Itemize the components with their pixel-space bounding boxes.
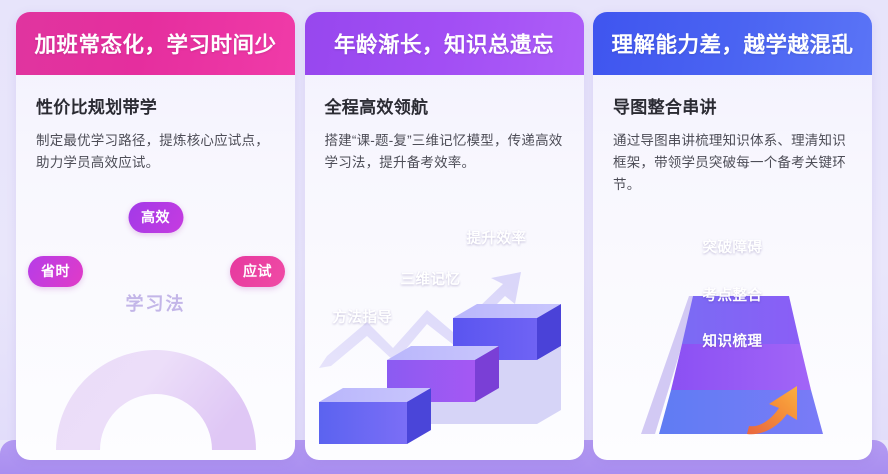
feature-card-list: 加班常态化，学习时间少 性价比规划带学 制定最优学习路径，提炼核心应试点，助力学…: [0, 0, 888, 474]
pyramid-level-3: [659, 390, 823, 434]
card-1-subtitle: 性价比规划带学: [36, 93, 275, 118]
feature-card-2[interactable]: 年龄渐长，知识总遗忘 全程高效领航 搭建“课-题-复”三维记忆模型，传递高效学习…: [305, 12, 584, 460]
arch-pill-right: 应试: [230, 256, 285, 287]
card-3-description: 通过导图串讲梳理知识体系、理清知识框架，带领学员突破每一个备考关键环节。: [613, 130, 852, 196]
arch-pill-top: 高效: [128, 202, 183, 233]
step-1-face: [319, 402, 407, 444]
card-2-body: 全程高效领航 搭建“课-题-复”三维记忆模型，传递高效学习法，提升备考效率。: [305, 75, 584, 174]
pyramid-graphic: 突破障碍 考点整合 知识梳理: [593, 200, 872, 460]
arch-graphic: 高效 省时 应试 学习法: [16, 178, 295, 460]
feature-card-3[interactable]: 理解能力差，越学越混乱 导图整合串讲 通过导图串讲梳理知识体系、理清知识框架，带…: [593, 12, 872, 460]
card-3-header: 理解能力差，越学越混乱: [593, 12, 872, 75]
card-2-header: 年龄渐长，知识总遗忘: [305, 12, 584, 75]
pyramid-label-3: 知识梳理: [703, 330, 763, 351]
pyramid-label-1: 突破障碍: [703, 236, 763, 257]
stair-label-1: 方法指导: [333, 306, 393, 327]
card-3-subtitle: 导图整合串讲: [613, 93, 852, 118]
arch-pill-left: 省时: [28, 256, 83, 287]
feature-card-1[interactable]: 加班常态化，学习时间少 性价比规划带学 制定最优学习路径，提炼核心应试点，助力学…: [16, 12, 295, 460]
card-1-description: 制定最优学习路径，提炼核心应试点，助力学员高效应试。: [36, 130, 275, 174]
arch-shape: [56, 350, 256, 450]
card-2-subtitle: 全程高效领航: [325, 93, 564, 118]
pyramid-label-2: 考点整合: [703, 284, 763, 305]
card-1-body: 性价比规划带学 制定最优学习路径，提炼核心应试点，助力学员高效应试。: [16, 75, 295, 174]
stairs-graphic: 方法指导 三维记忆 提升效率: [305, 178, 584, 460]
card-1-header: 加班常态化，学习时间少: [16, 12, 295, 75]
card-3-body: 导图整合串讲 通过导图串讲梳理知识体系、理清知识框架，带领学员突破每一个备考关键…: [593, 75, 872, 196]
card-2-description: 搭建“课-题-复”三维记忆模型，传递高效学习法，提升备考效率。: [325, 130, 564, 174]
stair-label-2: 三维记忆: [401, 268, 461, 289]
arch-center-label: 学习法: [126, 290, 186, 316]
stair-label-3: 提升效率: [467, 227, 527, 248]
